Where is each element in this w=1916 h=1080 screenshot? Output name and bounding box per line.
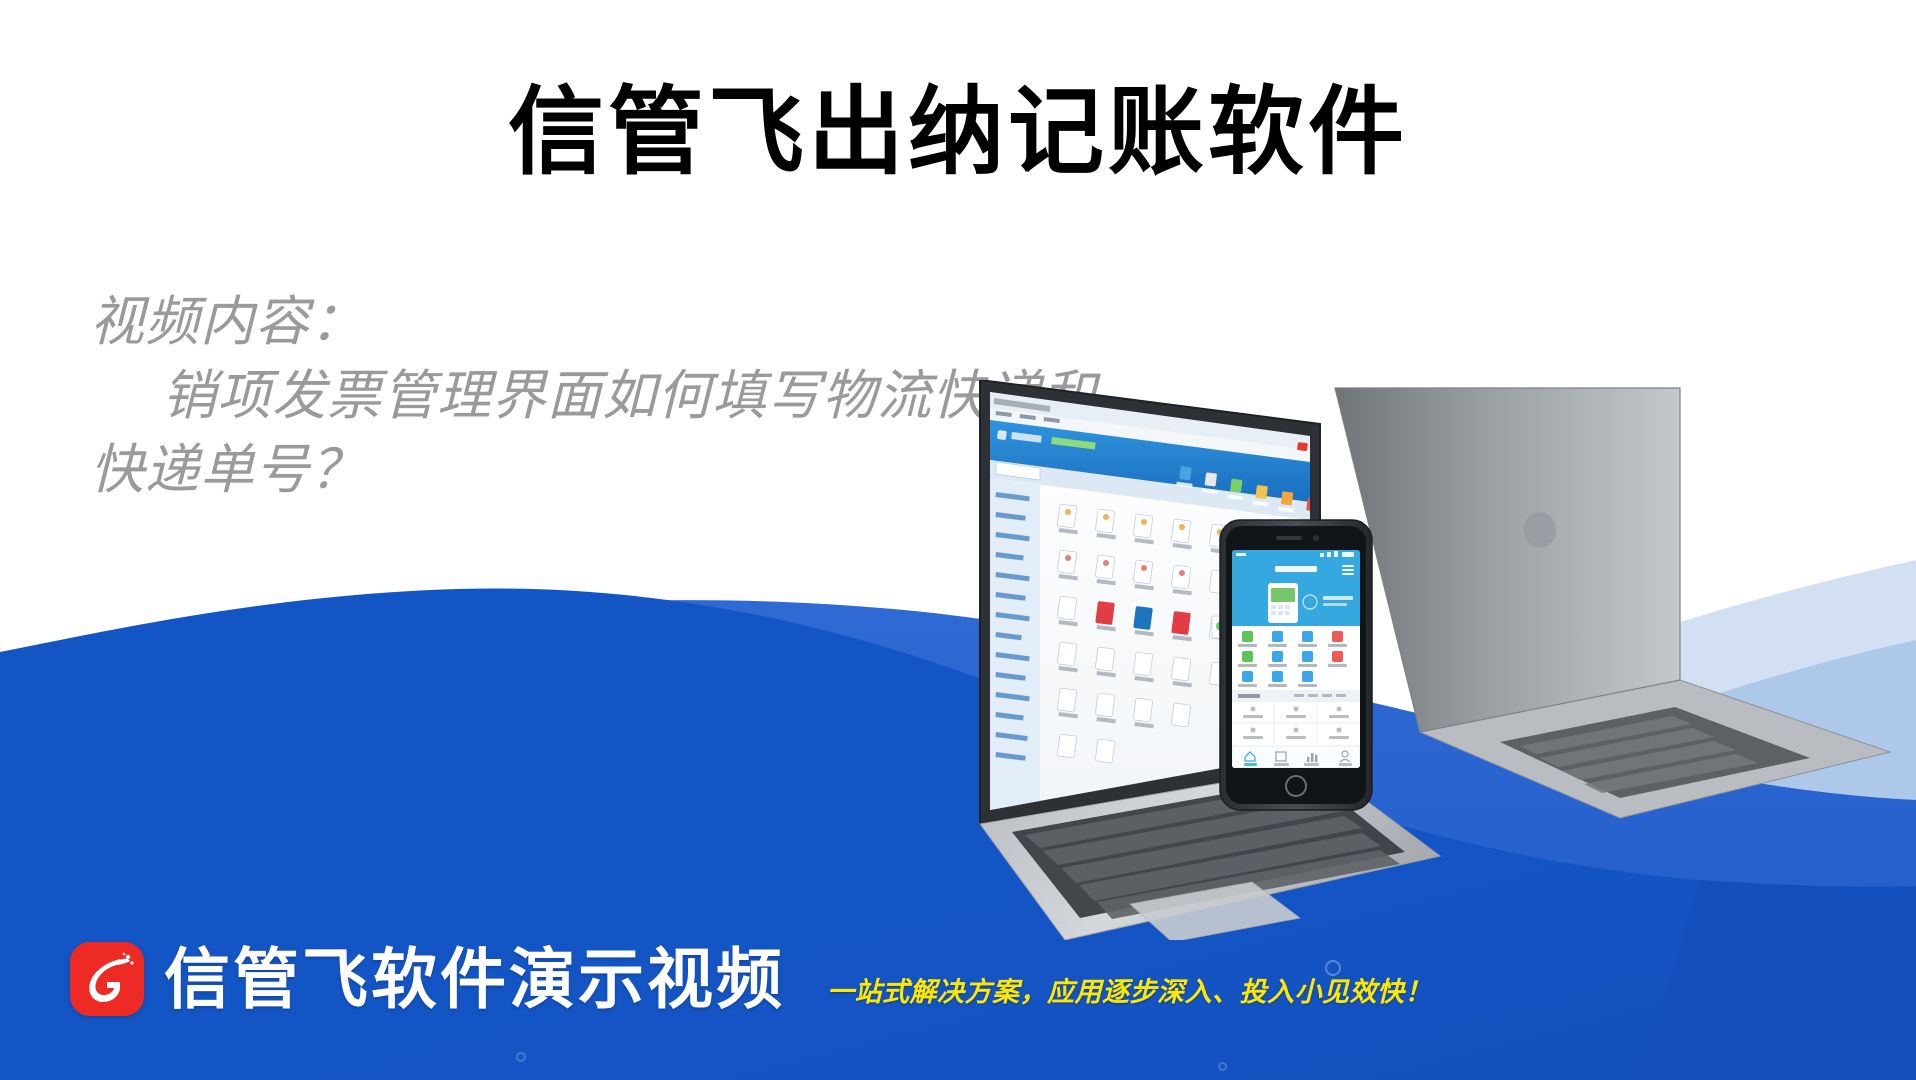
presentation-slide: 信管飞出纳记账软件 视频内容： 销项发票管理界面如何填写物流快递和快递单号？ (0, 0, 1916, 1080)
laptop-open-back (1335, 388, 1890, 818)
slide-title: 信管飞出纳记账软件 (0, 78, 1916, 188)
phone-earpiece (1276, 536, 1302, 540)
bubble-3 (1218, 1062, 1227, 1071)
footer-brand-bar: 信管飞软件演示视频 一站式解决方案，应用逐步深入、投入小见效快！ (70, 933, 1432, 1025)
device-mockup-group (880, 380, 1916, 940)
bubble-2 (516, 1052, 526, 1062)
brand-name: 信管飞软件演示视频 (164, 944, 785, 1014)
laptop-back-lid (1335, 388, 1680, 732)
laptop-back-lid-logo (1524, 512, 1556, 548)
phone-screen-content (1232, 550, 1360, 768)
hamburger-icon (1342, 565, 1354, 575)
phone-front-camera-icon (1313, 535, 1319, 541)
body-lead-label: 视频内容： (90, 285, 1150, 359)
brand-tagline: 一站式解决方案，应用逐步深入、投入小见效快！ (827, 976, 1432, 1008)
smartphone-front (1220, 520, 1372, 810)
xinguanfei-bird-logo-icon (70, 942, 144, 1016)
